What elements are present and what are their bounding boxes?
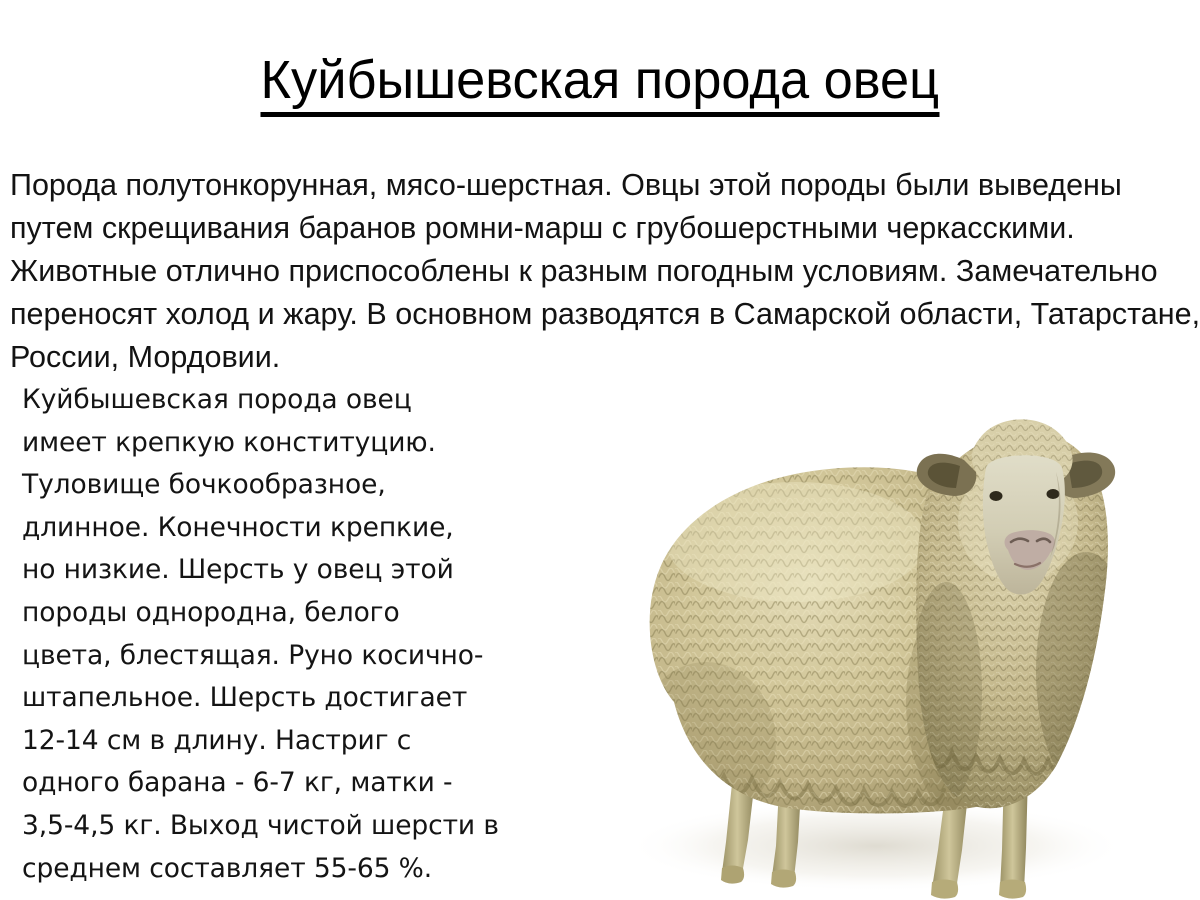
body-line: Куйбышевская порода овец <box>22 379 522 422</box>
page-title: Куйбышевская порода овец <box>261 52 940 117</box>
sheep-photo <box>556 372 1196 900</box>
sheep-illustration <box>556 372 1196 900</box>
intro-line: Порода полутонкорунная, мясо-шерстная. О… <box>10 163 1172 206</box>
intro-line: путем скрещивания баранов ромни-марш с г… <box>10 206 1172 249</box>
right-eye <box>1047 489 1060 499</box>
body-line: но низкие. Шерсть у овец этой <box>22 549 522 592</box>
intro-line: Животные отлично приспособлены к разным … <box>10 249 1172 292</box>
body-text-column: Куйбышевская порода овец имеет крепкую к… <box>22 379 522 890</box>
body-line: имеет крепкую конституцию. <box>22 422 522 465</box>
left-eye <box>990 491 1003 501</box>
intro-paragraph: Порода полутонкорунная, мясо-шерстная. О… <box>10 163 1190 378</box>
ground-shadow <box>626 800 1126 892</box>
body-line: породы однородна, белого <box>22 592 522 635</box>
slide-root: Куйбышевская порода овец Порода полутонк… <box>0 0 1200 900</box>
body-line: среднем составляет 55-65 %. <box>22 848 522 891</box>
body-line: одного барана - 6-7 кг, матки - <box>22 762 522 805</box>
body-line: 12-14 см в длину. Настриг с <box>22 720 522 763</box>
body-line: штапельное. Шерсть достигает <box>22 677 522 720</box>
intro-line: переносят холод и жару. В основном разво… <box>10 292 1172 335</box>
body-line: длинное. Конечности крепкие, <box>22 507 522 550</box>
body-line: 3,5-4,5 кг. Выход чистой шерсти в <box>22 805 522 848</box>
body-line: Туловище бочкообразное, <box>22 464 522 507</box>
body-line: цвета, блестящая. Руно косично- <box>22 635 522 678</box>
page-title-container: Куйбышевская порода овец <box>0 52 1200 117</box>
